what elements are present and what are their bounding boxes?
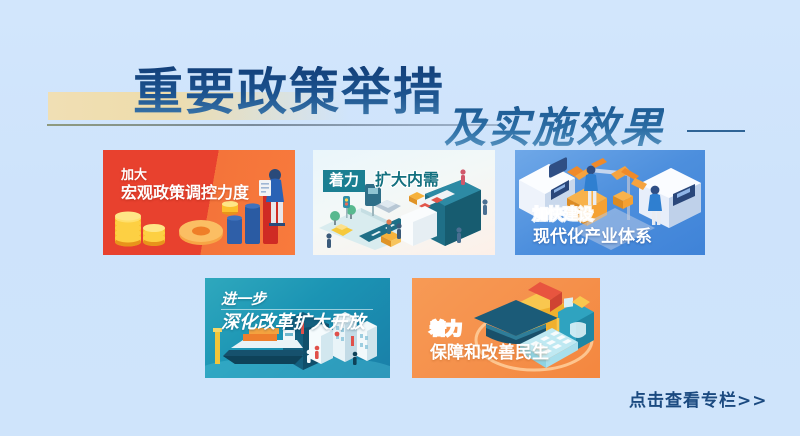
title-block: 重要政策举措 及实施效果 [0, 30, 800, 130]
card-macro-policy[interactable]: 加大 宏观政策调控力度 [103, 150, 295, 255]
card-modern-industry-line2: 现代化产业体系 [533, 226, 652, 247]
card-improve-livelihood[interactable]: 着力 保障和改善民生 [412, 278, 600, 378]
card-improve-livelihood-line2: 保障和改善民生 [430, 342, 549, 363]
card-macro-policy-line1: 加大 [121, 166, 147, 183]
title-rule-right [687, 130, 745, 132]
card-improve-livelihood-line1: 着力 [430, 320, 462, 340]
card-macro-policy-line2: 宏观政策调控力度 [121, 184, 249, 204]
card-reform-opening-line2: 深化改革扩大开放 [221, 311, 365, 333]
page-title-sub: 及实施效果 [444, 106, 664, 150]
poster-root: 重要政策举措 及实施效果 [0, 0, 800, 436]
title-rule-left [47, 124, 502, 126]
card-modern-industry[interactable]: 加快建设 现代化产业体系 [515, 150, 705, 255]
card-reform-opening-rule [221, 309, 373, 310]
card-reform-opening[interactable]: 进一步 深化改革扩大开放 [205, 278, 390, 378]
page-title-main: 重要政策举措 [133, 66, 445, 118]
card-expand-demand-line2: 扩大内需 [375, 170, 439, 192]
card-modern-industry-line1: 加快建设 [533, 205, 593, 224]
isometric-city-shops-icon [313, 150, 495, 255]
card-reform-opening-line1: 进一步 [221, 290, 266, 309]
card-expand-demand[interactable]: 着力 扩大内需 [313, 150, 495, 255]
view-column-link[interactable]: 点击查看专栏>> [629, 386, 768, 411]
card-expand-demand-line1: 着力 [323, 170, 365, 192]
